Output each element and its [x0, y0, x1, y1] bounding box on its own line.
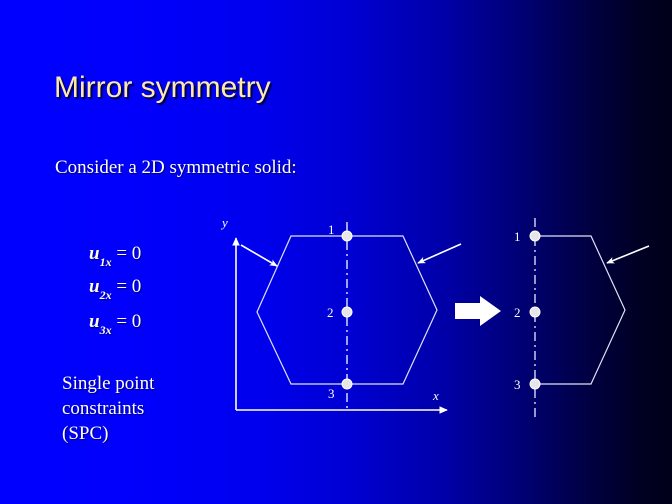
block-arrow-right-icon [455, 296, 501, 326]
node-2-marker-right[interactable] [530, 307, 540, 317]
slide-canvas: Mirror symmetry Consider a 2D symmetric … [0, 0, 672, 504]
node-2-label: 2 [327, 305, 334, 320]
node-1-label: 1 [328, 222, 335, 237]
node-3-label: 3 [328, 386, 335, 401]
node-1-label-right: 1 [514, 229, 521, 244]
annotation-arrow-right-figure [607, 246, 649, 263]
node-1-marker-right[interactable] [530, 231, 540, 241]
node-1-marker[interactable] [342, 231, 352, 241]
node-3-marker-right[interactable] [530, 379, 540, 389]
x-axis-label: x [432, 388, 439, 403]
annotation-arrow-left [241, 245, 277, 266]
node-2-marker[interactable] [342, 307, 352, 317]
symmetry-diagram: x y 1 2 3 1 2 3 [0, 0, 672, 504]
node-2-label-right: 2 [514, 305, 521, 320]
node-3-marker[interactable] [342, 379, 352, 389]
y-axis-label: y [220, 215, 228, 230]
annotation-arrow-right [418, 244, 461, 263]
half-hexagon-outline [535, 236, 625, 384]
left-figure-axes: x y [220, 215, 447, 410]
node-3-label-right: 3 [514, 377, 521, 392]
